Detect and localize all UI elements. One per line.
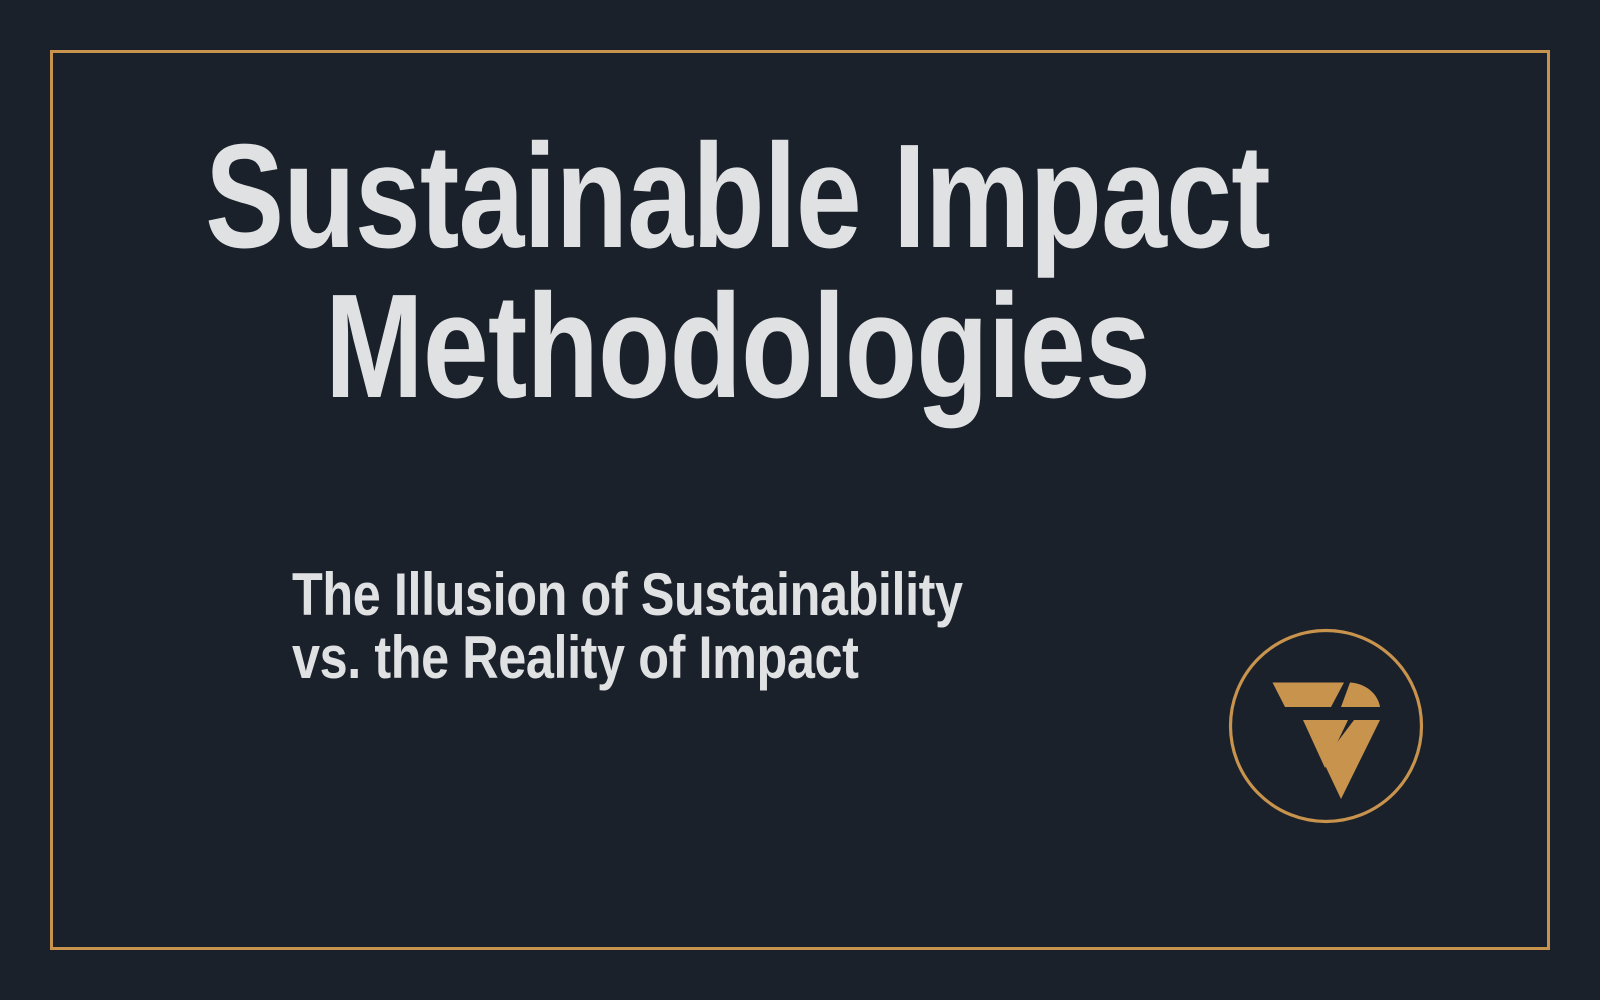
subtitle-line-2: vs. the Reality of Impact	[292, 626, 1048, 689]
title-slide: Sustainable Impact Methodologies The Ill…	[0, 0, 1600, 1000]
title-line-1: Sustainable Impact	[148, 122, 1328, 272]
logo-corner-wedge	[1341, 683, 1380, 708]
title-line-2: Methodologies	[148, 272, 1328, 422]
brand-mark-v-logo-icon	[1228, 628, 1424, 824]
page-title: Sustainable Impact Methodologies	[0, 122, 1475, 422]
page-subtitle: The Illusion of Sustainability vs. the R…	[292, 563, 1192, 689]
brand-logo	[1228, 628, 1424, 824]
subtitle-line-1: The Illusion of Sustainability	[292, 563, 1048, 626]
logo-top-bar	[1273, 683, 1345, 708]
